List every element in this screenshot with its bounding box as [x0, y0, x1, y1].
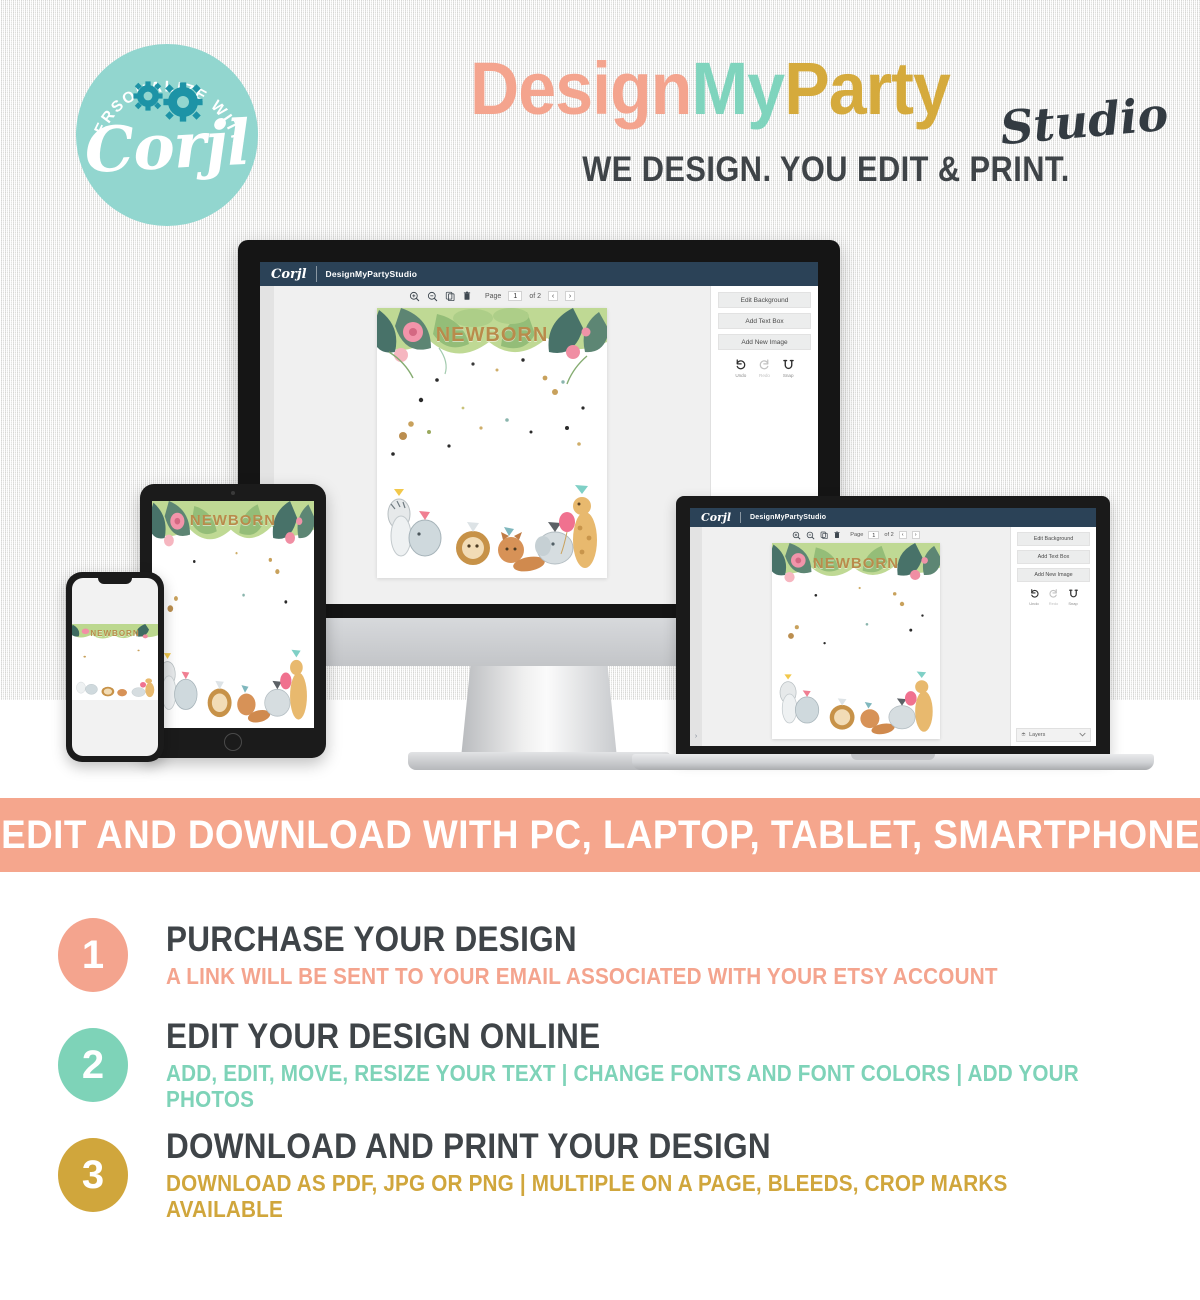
editor-canvas-area-laptop: Page 1 of 2 ‹ › NEWBORN	[702, 527, 1010, 746]
corjl-editor-laptop: Corjl DesignMyPartyStudio ›	[690, 508, 1096, 746]
design-canvas-desktop[interactable]: NEWBORN	[377, 308, 607, 578]
prev-page-button[interactable]: ‹	[548, 291, 558, 301]
header-divider	[316, 266, 317, 282]
step-2-subtitle: ADD, EDIT, MOVE, RESIZE YOUR TEXT | CHAN…	[166, 1061, 1097, 1112]
page-number-input[interactable]: 1	[508, 291, 522, 301]
next-page-button-laptop[interactable]: ›	[912, 531, 920, 539]
page-total-laptop: of 2	[884, 532, 893, 538]
add-new-image-button[interactable]: Add New Image	[718, 334, 810, 350]
editor-brand-name: DesignMyPartyStudio	[326, 269, 418, 279]
logo-part-design: Design	[470, 47, 691, 130]
tablet-mockup: NEWBORN	[140, 484, 326, 758]
tablet-screen: NEWBORN	[152, 501, 314, 728]
header-divider-laptop	[740, 512, 741, 523]
undo-label: Undo	[734, 373, 747, 378]
step-2: 2 EDIT YOUR DESIGN ONLINE ADD, EDIT, MOV…	[0, 1010, 1200, 1120]
undo-button[interactable]: Undo	[734, 358, 747, 378]
zoom-in-icon[interactable]	[409, 291, 420, 302]
laptop-screen: Corjl DesignMyPartyStudio ›	[690, 508, 1096, 746]
step-1-title: PURCHASE YOUR DESIGN	[166, 921, 998, 960]
logo-part-my: My	[691, 47, 784, 130]
zoom-out-icon[interactable]	[427, 291, 438, 302]
page-number-input-laptop[interactable]: 1	[868, 531, 879, 539]
redo-icon	[758, 358, 771, 371]
corjl-logo-laptop: Corjl	[701, 511, 731, 524]
undo-icon	[734, 358, 747, 371]
redo-label-laptop: Redo	[1048, 601, 1059, 606]
add-text-box-button-laptop[interactable]: Add Text Box	[1017, 550, 1090, 564]
zoom-in-icon-laptop[interactable]	[792, 531, 801, 540]
monitor-stand-neck	[461, 666, 617, 758]
badge-corjl-script: Corjl	[74, 105, 260, 187]
editor-right-panel-laptop: Edit Background Add Text Box Add New Ima…	[1010, 527, 1096, 746]
editor-header-laptop: Corjl DesignMyPartyStudio	[690, 508, 1096, 527]
snap-button-laptop[interactable]: Snap	[1068, 588, 1079, 606]
redo-icon-laptop	[1048, 588, 1059, 599]
design-title-laptop: NEWBORN	[772, 555, 940, 572]
tablet-home-button[interactable]	[224, 733, 242, 751]
editor-left-rail-laptop[interactable]: ›	[690, 527, 702, 746]
design-title-tablet: NEWBORN	[152, 512, 314, 529]
laptop-mockup: Corjl DesignMyPartyStudio ›	[676, 496, 1110, 758]
step-3-subtitle: DOWNLOAD AS PDF, JPG OR PNG | MULTIPLE O…	[166, 1171, 1097, 1222]
page-total: of 2	[529, 293, 541, 300]
devices-banner-text: EDIT AND DOWNLOAD WITH PC, LAPTOP, TABLE…	[1, 813, 1200, 858]
editor-toolbar: Page 1 of 2 ‹ ›	[409, 286, 575, 306]
tablet-camera-icon	[231, 491, 235, 495]
step-1-text: PURCHASE YOUR DESIGN A LINK WILL BE SENT…	[166, 921, 1090, 990]
trash-icon[interactable]	[462, 291, 472, 301]
page-label-laptop: Page	[850, 532, 863, 538]
duplicate-icon-laptop[interactable]	[820, 531, 828, 539]
prev-page-button-laptop[interactable]: ‹	[899, 531, 907, 539]
design-artwork-tablet	[152, 501, 314, 728]
monitor-stand-base	[408, 752, 670, 770]
add-new-image-button-laptop[interactable]: Add New Image	[1017, 568, 1090, 582]
design-canvas-phone[interactable]: NEWBORN	[72, 624, 158, 700]
phone-screen: NEWBORN	[72, 578, 158, 756]
design-canvas-tablet[interactable]: NEWBORN	[152, 501, 314, 728]
edit-background-button[interactable]: Edit Background	[718, 292, 810, 308]
steps-section: 1 PURCHASE YOUR DESIGN A LINK WILL BE SE…	[0, 900, 1200, 1230]
editor-toolbar-laptop: Page 1 of 2 ‹ ›	[792, 527, 919, 543]
snap-icon	[782, 358, 795, 371]
step-1: 1 PURCHASE YOUR DESIGN A LINK WILL BE SE…	[0, 900, 1200, 1010]
editor-body-laptop: ›	[690, 527, 1096, 746]
editor-header: Corjl DesignMyPartyStudio	[260, 262, 818, 286]
duplicate-icon[interactable]	[445, 291, 455, 301]
step-1-subtitle: A LINK WILL BE SENT TO YOUR EMAIL ASSOCI…	[166, 964, 998, 989]
brand-tagline: WE DESIGN. YOU EDIT & PRINT.	[553, 150, 1099, 190]
trash-icon-laptop[interactable]	[833, 531, 841, 539]
redo-button-laptop[interactable]: Redo	[1048, 588, 1059, 606]
step-1-number: 1	[58, 918, 128, 992]
redo-button[interactable]: Redo	[758, 358, 771, 378]
step-3: 3 DOWNLOAD AND PRINT YOUR DESIGN DOWNLOA…	[0, 1120, 1200, 1230]
phone-notch	[98, 577, 132, 584]
snap-label: Snap	[782, 373, 795, 378]
rail-expand-icon-laptop[interactable]: ›	[695, 733, 697, 740]
smartphone-mockup: NEWBORN	[66, 572, 164, 762]
editor-brand-name-laptop: DesignMyPartyStudio	[750, 514, 826, 521]
step-2-number: 2	[58, 1028, 128, 1102]
editor-history-tools-laptop: Undo Redo Snap	[1011, 588, 1096, 606]
snap-icon-laptop	[1068, 588, 1079, 599]
snap-button[interactable]: Snap	[782, 358, 795, 378]
design-canvas-laptop[interactable]: NEWBORN	[772, 543, 940, 739]
laptop-base-notch	[851, 754, 935, 760]
corjl-logo: Corjl	[271, 267, 307, 282]
layers-label: Layers	[1029, 732, 1045, 738]
editor-canvas-area: Page 1 of 2 ‹ › NEWBORN	[274, 286, 710, 604]
editor-history-tools: Undo Redo Snap	[711, 358, 818, 378]
add-text-box-button[interactable]: Add Text Box	[718, 313, 810, 329]
brand-logo: DesignMyParty Studio WE DESIGN. YOU EDIT…	[470, 52, 1180, 202]
personalize-with-corjl-badge: PERSONALIZE WITH	[76, 44, 258, 226]
edit-background-button-laptop[interactable]: Edit Background	[1017, 532, 1090, 546]
undo-icon-laptop	[1029, 588, 1040, 599]
design-artwork	[377, 308, 607, 578]
undo-button-laptop[interactable]: Undo	[1029, 588, 1040, 606]
page-label: Page	[485, 293, 501, 300]
snap-label-laptop: Snap	[1068, 601, 1079, 606]
next-page-button[interactable]: ›	[565, 291, 575, 301]
step-3-title: DOWNLOAD AND PRINT YOUR DESIGN	[166, 1128, 1097, 1167]
design-title-phone: NEWBORN	[72, 629, 158, 638]
chevron-down-icon	[1079, 732, 1086, 739]
design-title[interactable]: NEWBORN	[377, 324, 607, 347]
logo-part-party: Party	[784, 47, 950, 130]
step-2-title: EDIT YOUR DESIGN ONLINE	[166, 1018, 1097, 1057]
step-3-number: 3	[58, 1138, 128, 1212]
step-2-text: EDIT YOUR DESIGN ONLINE ADD, EDIT, MOVE,…	[166, 1018, 1200, 1112]
undo-label-laptop: Undo	[1029, 601, 1040, 606]
zoom-out-icon-laptop[interactable]	[806, 531, 815, 540]
devices-banner: EDIT AND DOWNLOAD WITH PC, LAPTOP, TABLE…	[0, 798, 1200, 872]
layers-dropdown[interactable]: Layers	[1016, 728, 1091, 742]
redo-label: Redo	[758, 373, 771, 378]
layers-stack-icon	[1021, 732, 1026, 739]
design-artwork-laptop	[772, 543, 940, 739]
step-3-text: DOWNLOAD AND PRINT YOUR DESIGN DOWNLOAD …	[166, 1128, 1200, 1222]
